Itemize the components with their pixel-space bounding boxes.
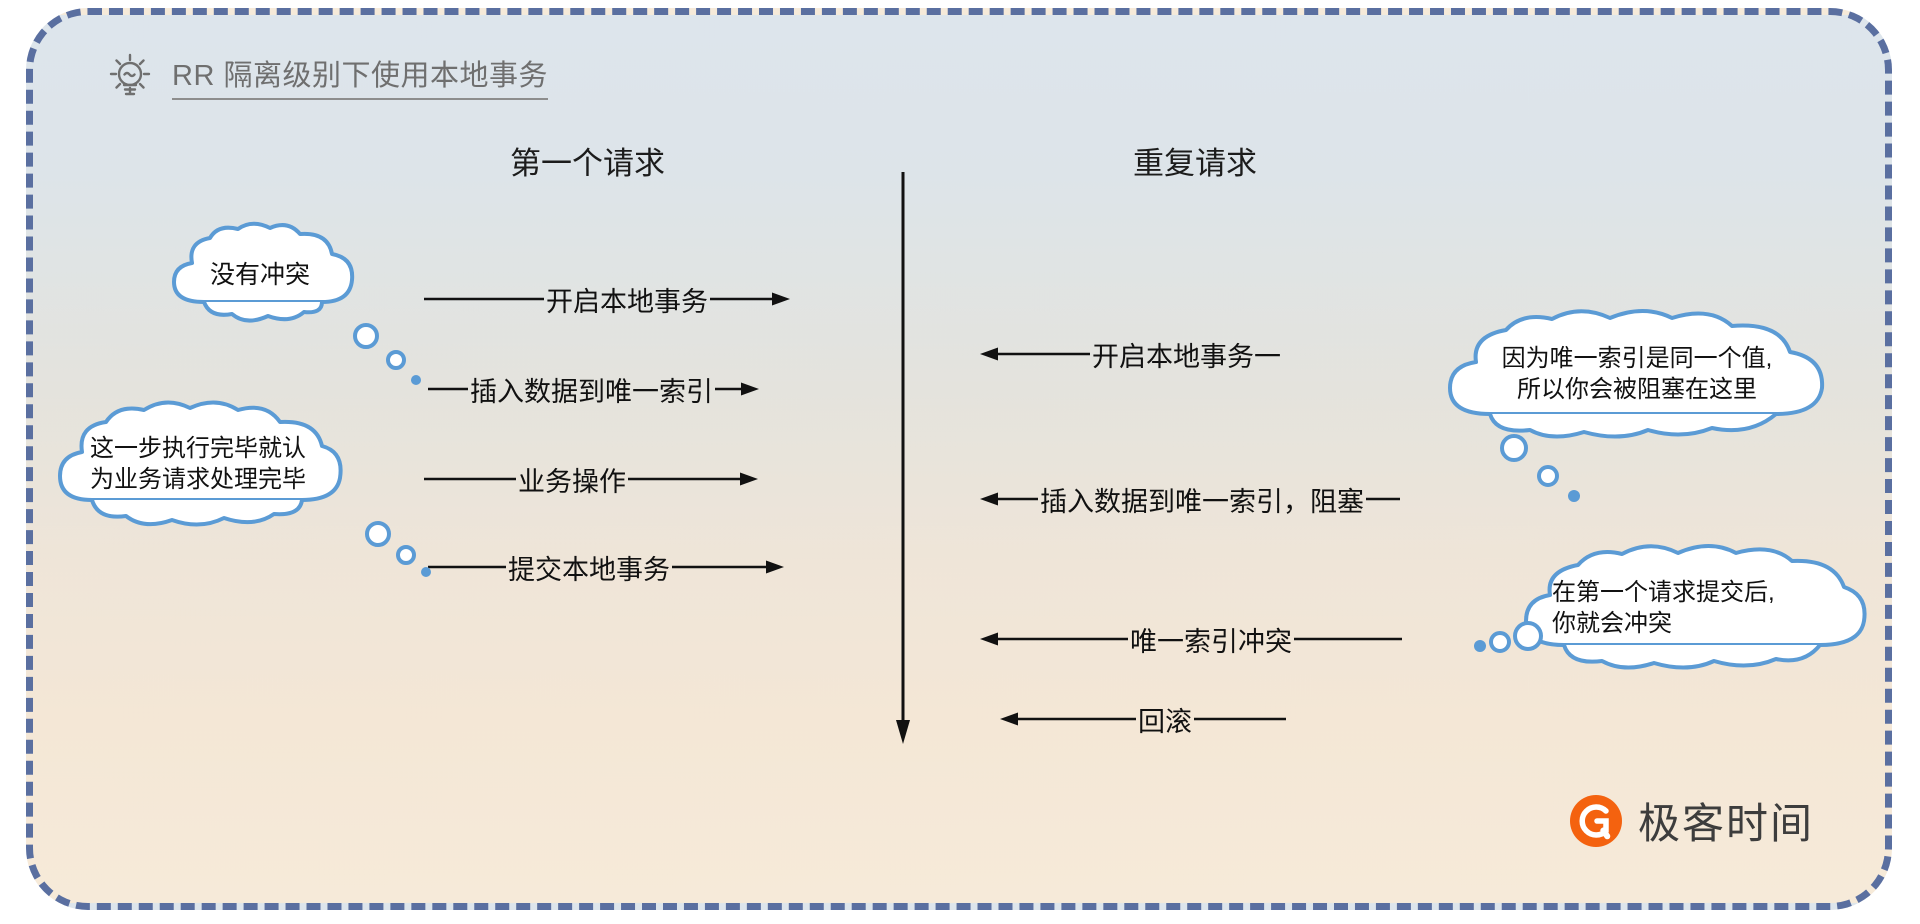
lifeline-divider	[896, 172, 910, 744]
message-right-4: 回滚	[1000, 700, 1286, 738]
cloud-tail-bubbles-4	[1470, 612, 1550, 666]
page-title: RR 隔离级别下使用本地事务	[172, 52, 548, 100]
cloud-unique-index-blocked: 因为唯一索引是同一个值, 所以你会被阻塞在这里	[1432, 310, 1842, 440]
brand-logo: 极客时间	[1568, 790, 1814, 851]
message-left-3: 业务操作	[424, 460, 758, 498]
geekbang-logo-icon	[1568, 793, 1624, 849]
cloud-tail-bubbles-1	[352, 322, 432, 402]
message-left-3-label: 业务操作	[516, 460, 628, 499]
message-right-4-label: 回滚	[1136, 700, 1194, 739]
cloud-conflict-after-commit: 在第一个请求提交后, 你就会冲突	[1508, 545, 1878, 673]
brand-logo-text: 极客时间	[1638, 790, 1814, 851]
message-left-2-label: 插入数据到唯一索引	[468, 370, 715, 409]
message-right-2-label: 插入数据到唯一索引，阻塞	[1038, 480, 1366, 519]
message-right-3: 唯一索引冲突	[980, 620, 1402, 658]
message-left-4: 提交本地事务	[428, 548, 784, 586]
column-header-first-request: 第一个请求	[510, 138, 665, 183]
column-header-repeat-request: 重复请求	[1133, 138, 1257, 183]
message-left-1-label: 开启本地事务	[544, 280, 710, 319]
message-right-3-label: 唯一索引冲突	[1128, 620, 1294, 659]
cloud-tail-bubbles-2	[364, 520, 444, 600]
diagram-canvas: RR 隔离级别下使用本地事务 第一个请求 重复请求 开启本地事务 插入数据到唯一…	[0, 0, 1920, 924]
cloud-tail-bubbles-3	[1500, 432, 1610, 522]
message-left-2: 插入数据到唯一索引	[428, 370, 759, 408]
message-right-1-label: 开启本地事务一	[1090, 335, 1283, 374]
cloud-step-done: 这一步执行完毕就认 为业务请求处理完毕	[48, 400, 348, 530]
message-right-2: 插入数据到唯一索引，阻塞	[980, 480, 1400, 518]
lightbulb-icon	[106, 50, 154, 102]
message-right-1: 开启本地事务一	[980, 335, 1283, 373]
title-row: RR 隔离级别下使用本地事务	[106, 50, 548, 102]
cloud-no-conflict: 没有冲突	[160, 222, 360, 327]
message-left-1: 开启本地事务	[424, 280, 790, 318]
message-left-4-label: 提交本地事务	[506, 548, 672, 587]
